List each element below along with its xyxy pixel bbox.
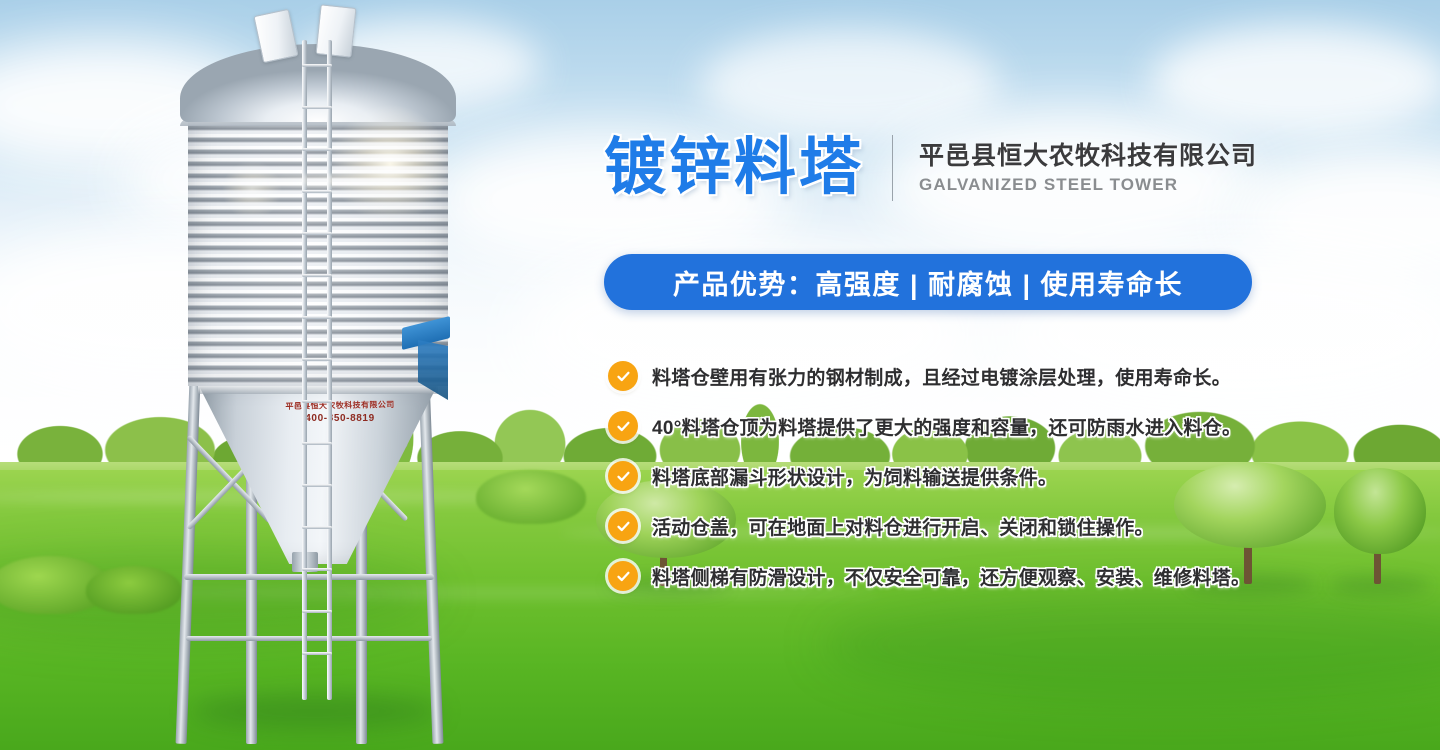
check-icon <box>608 411 638 441</box>
feature-text: 40°料塔仓顶为料塔提供了更大的强度和容量，还可防雨水进入料仓。 <box>652 413 1241 440</box>
list-item: 40°料塔仓顶为料塔提供了更大的强度和容量，还可防雨水进入料仓。 <box>608 408 1308 444</box>
list-item: 活动仓盖，可在地面上对料仓进行开启、关闭和锁住操作。 <box>608 508 1308 544</box>
advantage-pill: 产品优势：高强度 | 耐腐蚀 | 使用寿命长 <box>604 254 1252 310</box>
page-title: 镀锌料塔 <box>604 137 864 199</box>
feature-text: 活动仓盖，可在地面上对料仓进行开启、关闭和锁住操作。 <box>652 513 1154 540</box>
title-row: 镀锌料塔 平邑县恒大农牧科技有限公司 GALVANIZED STEEL TOWE… <box>604 122 1257 214</box>
company-tagline-en: GALVANIZED STEEL TOWER <box>919 176 1257 193</box>
check-icon <box>608 461 638 491</box>
title-divider <box>892 135 893 201</box>
product-hero-banner: 平邑县恒大农牧科技有限公司 400-850-8819 <box>0 0 1440 750</box>
feature-text: 料塔侧梯有防滑设计，不仅安全可靠，还方便观察、安装、维修料塔。 <box>652 563 1250 590</box>
list-item: 料塔侧梯有防滑设计，不仅安全可靠，还方便观察、安装、维修料塔。 <box>608 558 1308 594</box>
company-block: 平邑县恒大农牧科技有限公司 GALVANIZED STEEL TOWER <box>919 144 1257 193</box>
advantage-pill-label: 产品优势：高强度 | 耐腐蚀 | 使用寿命长 <box>673 263 1183 302</box>
feature-list: 料塔仓壁用有张力的钢材制成，且经过电镀涂层处理，使用寿命长。 40°料塔仓顶为料… <box>608 358 1308 608</box>
check-icon <box>608 511 638 541</box>
check-icon <box>608 361 638 391</box>
banner-content: 镀锌料塔 平邑县恒大农牧科技有限公司 GALVANIZED STEEL TOWE… <box>0 0 1440 750</box>
feature-text: 料塔仓壁用有张力的钢材制成，且经过电镀涂层处理，使用寿命长。 <box>652 363 1231 390</box>
list-item: 料塔仓壁用有张力的钢材制成，且经过电镀涂层处理，使用寿命长。 <box>608 358 1308 394</box>
check-icon <box>608 561 638 591</box>
list-item: 料塔底部漏斗形状设计，为饲料输送提供条件。 <box>608 458 1308 494</box>
company-name: 平邑县恒大农牧科技有限公司 <box>919 144 1257 169</box>
feature-text: 料塔底部漏斗形状设计，为饲料输送提供条件。 <box>652 463 1057 490</box>
